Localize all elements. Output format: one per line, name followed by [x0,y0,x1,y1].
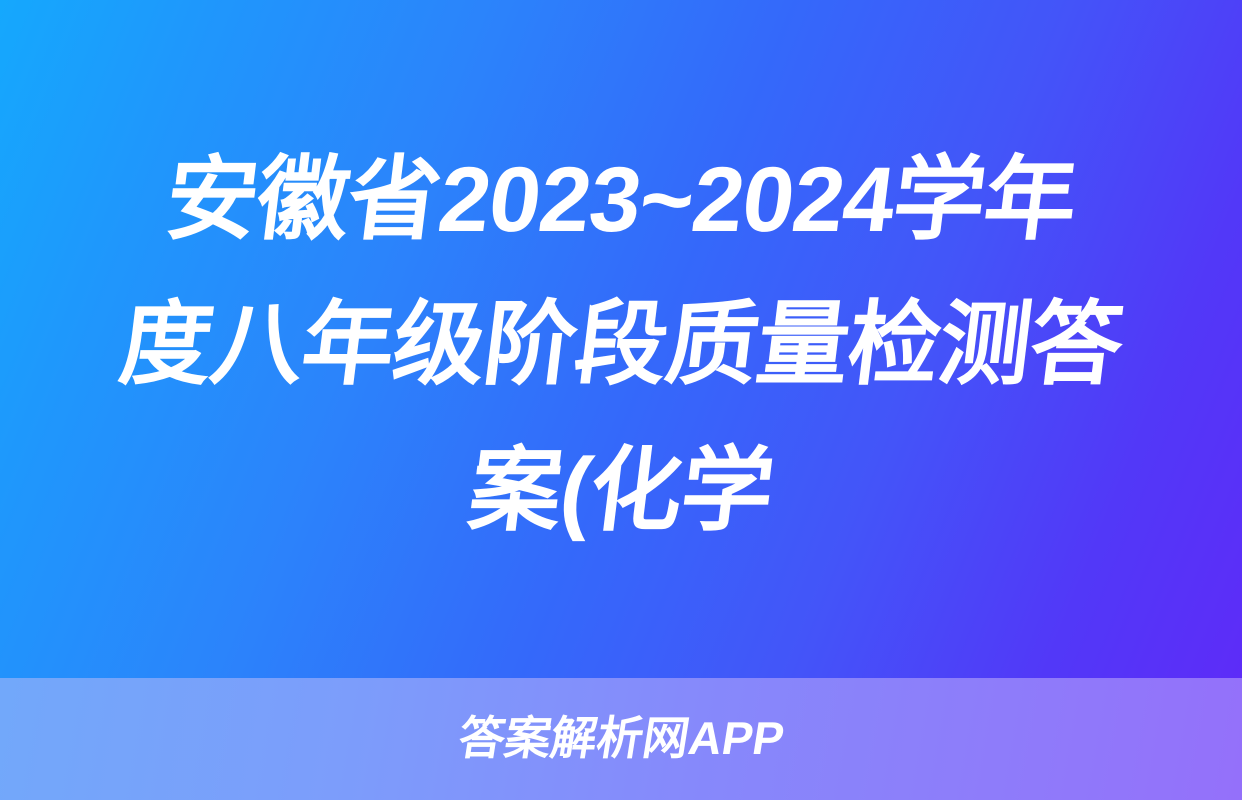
exam-cover-card: 安徽省2023~2024学年 度八年级阶段质量检测答 案(化学 答案解析网APP [0,0,1242,800]
watermark-brand-label: 答案解析网APP [455,715,787,763]
title-line-2: 度八年级阶段质量检测答 [77,273,1165,418]
hero-gradient-background: 安徽省2023~2024学年 度八年级阶段质量检测答 案(化学 [0,0,1242,678]
footer-watermark-band: 答案解析网APP [0,678,1242,800]
title-line-1: 安徽省2023~2024学年 [77,128,1165,273]
page-title: 安徽省2023~2024学年 度八年级阶段质量检测答 案(化学 [86,114,1156,564]
title-line-3: 案(化学 [77,419,1165,564]
